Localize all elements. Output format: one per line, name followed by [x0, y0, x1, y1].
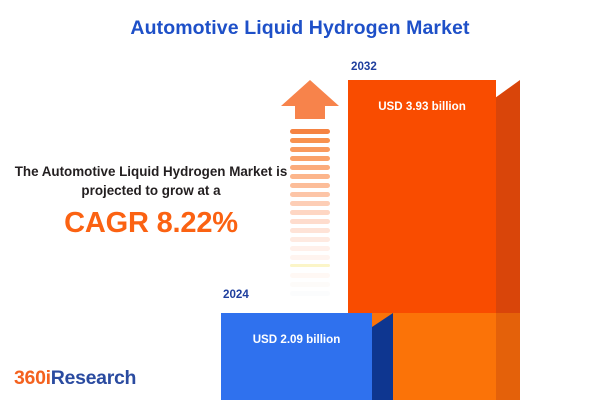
year-label-2032: 2032	[351, 60, 377, 73]
arrow-segment	[290, 165, 330, 170]
bar-2024: USD 2.09 billion	[221, 313, 393, 400]
market-infographic: Automotive Liquid Hydrogen Market The Au…	[0, 0, 600, 400]
arrow-segment	[290, 282, 330, 287]
arrow-segment	[290, 174, 330, 179]
bar-2024-front-face	[221, 313, 372, 400]
brand-logo: 360iResearch	[14, 367, 136, 390]
bar-2032-value-label: USD 3.93 billion	[348, 100, 496, 113]
bar-2024-value-label: USD 2.09 billion	[221, 333, 372, 346]
growth-arrow-icon	[281, 80, 339, 295]
arrow-segment	[290, 183, 330, 188]
logo-mark-research: Research	[51, 367, 136, 389]
year-label-2024: 2024	[223, 288, 249, 301]
arrow-segment	[290, 156, 330, 161]
arrow-segment	[290, 210, 330, 215]
arrow-segment	[290, 219, 330, 224]
statement-block: The Automotive Liquid Hydrogen Market is…	[12, 162, 290, 240]
arrow-segment	[290, 291, 330, 296]
arrow-segment	[290, 255, 330, 260]
arrow-segment	[290, 138, 330, 143]
logo-mark-360i: 360i	[14, 367, 51, 389]
arrow-segment	[290, 273, 330, 278]
arrow-segment	[290, 147, 330, 152]
arrow-head-icon	[281, 80, 339, 126]
arrow-segment	[290, 192, 330, 197]
arrow-segment	[290, 201, 330, 206]
bar-2024-side-face	[372, 313, 393, 400]
bar-2032-side-face-lower	[495, 313, 520, 400]
page-title: Automotive Liquid Hydrogen Market	[0, 17, 600, 40]
statement-text: The Automotive Liquid Hydrogen Market is…	[12, 162, 290, 200]
arrow-segment	[290, 228, 330, 233]
arrow-segment	[290, 264, 330, 267]
arrow-segment	[290, 246, 330, 251]
arrow-segment	[290, 129, 330, 134]
arrow-segment	[290, 237, 330, 242]
cagr-value: CAGR 8.22%	[12, 207, 290, 240]
